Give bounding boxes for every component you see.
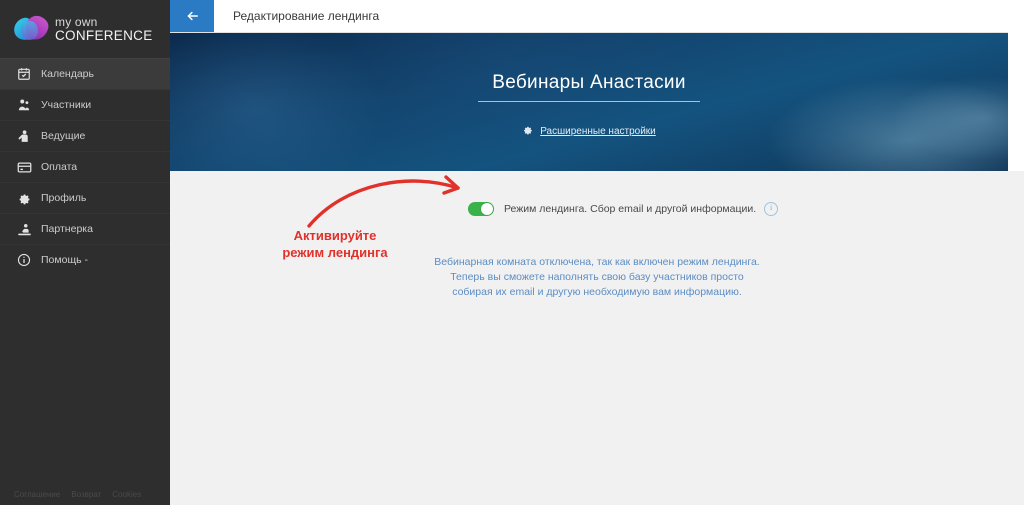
presenter-icon	[16, 128, 32, 144]
footer-link-refund[interactable]: Возврат	[71, 490, 101, 499]
landing-mode-row: Режим лендинга. Сбор email и другой инфо…	[468, 202, 778, 216]
advanced-settings-link[interactable]: Расширенные настройки	[170, 122, 1008, 140]
banner-right-margin	[1008, 32, 1024, 171]
notice-line: Теперь вы сможете наполнять свою базу уч…	[170, 270, 1024, 285]
sidebar-item-label: Помощь -	[41, 254, 88, 266]
gear-icon	[522, 122, 533, 140]
footer-link-agreement[interactable]: Соглашение	[14, 490, 60, 499]
footer-link-cookies[interactable]: Cookies	[112, 490, 141, 499]
sidebar-item-partners[interactable]: Партнерка	[0, 213, 170, 244]
toggle-knob	[481, 203, 493, 215]
sidebar-item-participants[interactable]: Участники	[0, 89, 170, 120]
gear-icon	[16, 190, 32, 206]
sidebar-item-label: Календарь	[41, 68, 94, 80]
logo-line-1: my own	[55, 16, 153, 28]
sidebar-item-label: Партнерка	[41, 223, 93, 235]
notice-line: собирая их email и другую необходимую ва…	[170, 285, 1024, 300]
logo-mark-icon	[14, 16, 48, 42]
main-content: Режим лендинга. Сбор email и другой инфо…	[170, 171, 1024, 505]
sidebar-footer-links: Соглашение Возврат Cookies	[14, 490, 141, 499]
arrow-left-icon	[184, 9, 201, 23]
topbar: Редактирование лендинга	[170, 0, 1024, 33]
page-title: Редактирование лендинга	[214, 0, 379, 32]
sidebar-item-payment[interactable]: Оплата	[0, 151, 170, 182]
info-circle-icon	[16, 252, 32, 268]
webinar-banner: Вебинары Анастасии Расширенные настройки	[170, 32, 1008, 171]
sidebar-item-calendar[interactable]: Календарь	[0, 58, 170, 89]
info-circle-icon[interactable]: i	[764, 202, 778, 216]
sidebar-item-help[interactable]: Помощь -	[0, 244, 170, 275]
landing-mode-label: Режим лендинга. Сбор email и другой инфо…	[504, 203, 756, 215]
users-icon	[16, 97, 32, 113]
advanced-settings-label: Расширенные настройки	[540, 126, 656, 137]
sidebar-item-profile[interactable]: Профиль	[0, 182, 170, 213]
landing-mode-toggle[interactable]	[468, 202, 494, 216]
handshake-icon	[16, 221, 32, 237]
notice-line: Вебинарная комната отключена, так как вк…	[170, 255, 1024, 270]
logo-line-2: CONFERENCE	[55, 29, 153, 43]
app-logo[interactable]: my own CONFERENCE	[0, 0, 170, 58]
back-button[interactable]	[170, 0, 214, 32]
sidebar-item-label: Оплата	[41, 161, 77, 173]
calendar-check-icon	[16, 66, 32, 82]
landing-mode-notice: Вебинарная комната отключена, так как вк…	[170, 255, 1024, 300]
sidebar-item-presenters[interactable]: Ведущие	[0, 120, 170, 151]
sidebar: my own CONFERENCE Календарь Участники	[0, 0, 170, 505]
sidebar-item-label: Профиль	[41, 192, 86, 204]
credit-card-icon	[16, 159, 32, 175]
sidebar-item-label: Участники	[41, 99, 91, 111]
sidebar-item-label: Ведущие	[41, 130, 85, 142]
webinar-title: Вебинары Анастасии	[478, 72, 700, 102]
